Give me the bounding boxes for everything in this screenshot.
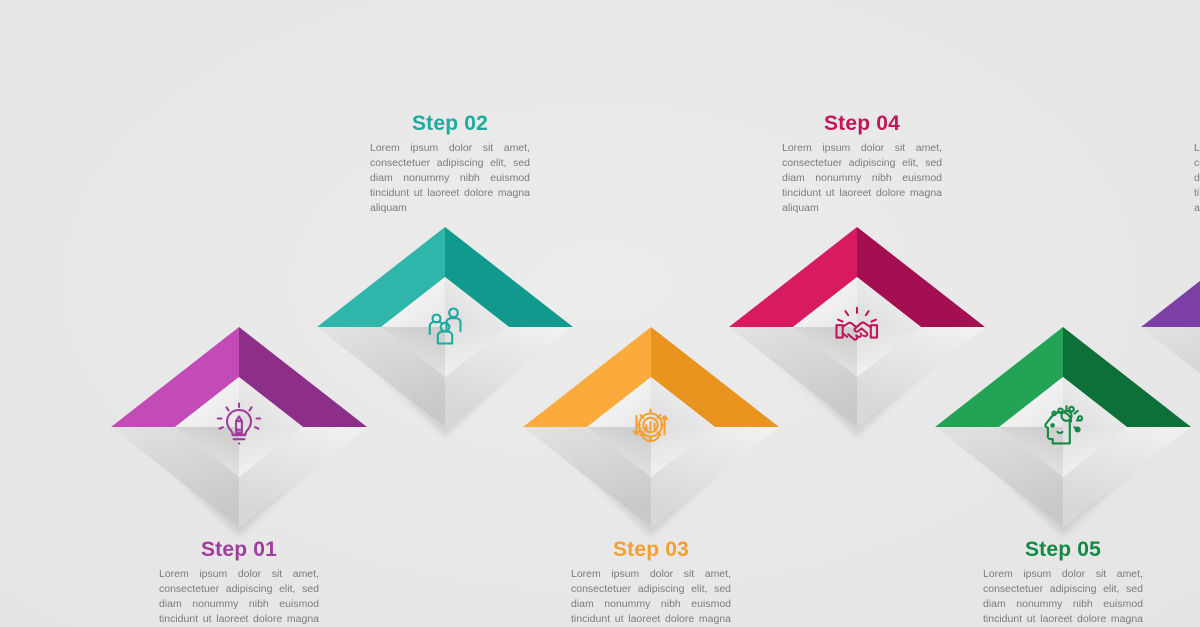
step-title-2: Step 02: [370, 112, 530, 135]
diamond-chain-graphic: [0, 0, 1200, 627]
diamond-step-5[interactable]: [935, 327, 1191, 537]
step-text-block-4: Step 04Lorem ipsum dolor sit amet, conse…: [782, 112, 942, 216]
step-title-1: Step 01: [159, 538, 319, 561]
diamond-step-2[interactable]: [317, 227, 573, 437]
diamond-step-4[interactable]: [729, 227, 985, 437]
step-text-block-3: Step 03Lorem ipsum dolor sit amet, conse…: [571, 538, 731, 627]
step-title-4: Step 04: [782, 112, 942, 135]
step-description-3: Lorem ipsum dolor sit amet, consectetuer…: [571, 567, 731, 627]
diamond-step-3[interactable]: [523, 327, 779, 537]
step-description-1: Lorem ipsum dolor sit amet, consectetuer…: [159, 567, 319, 627]
step-title-6: Step 06: [1194, 112, 1200, 135]
step-description-2: Lorem ipsum dolor sit amet, consectetuer…: [370, 141, 530, 216]
step-description-4: Lorem ipsum dolor sit amet, consectetuer…: [782, 141, 942, 216]
step-title-3: Step 03: [571, 538, 731, 561]
step-text-block-2: Step 02Lorem ipsum dolor sit amet, conse…: [370, 112, 530, 216]
step-text-block-1: Step 01Lorem ipsum dolor sit amet, conse…: [159, 538, 319, 627]
step-description-5: Lorem ipsum dolor sit amet, consectetuer…: [983, 567, 1143, 627]
infographic-canvas: Step 01Lorem ipsum dolor sit amet, conse…: [0, 0, 1200, 627]
diamond-step-1[interactable]: [111, 327, 367, 537]
step-description-6: Lorem ipsum dolor sit amet, consectetuer…: [1194, 141, 1200, 216]
step-text-block-6: Step 06Lorem ipsum dolor sit amet, conse…: [1194, 112, 1200, 216]
step-title-5: Step 05: [983, 538, 1143, 561]
step-text-block-5: Step 05Lorem ipsum dolor sit amet, conse…: [983, 538, 1143, 627]
